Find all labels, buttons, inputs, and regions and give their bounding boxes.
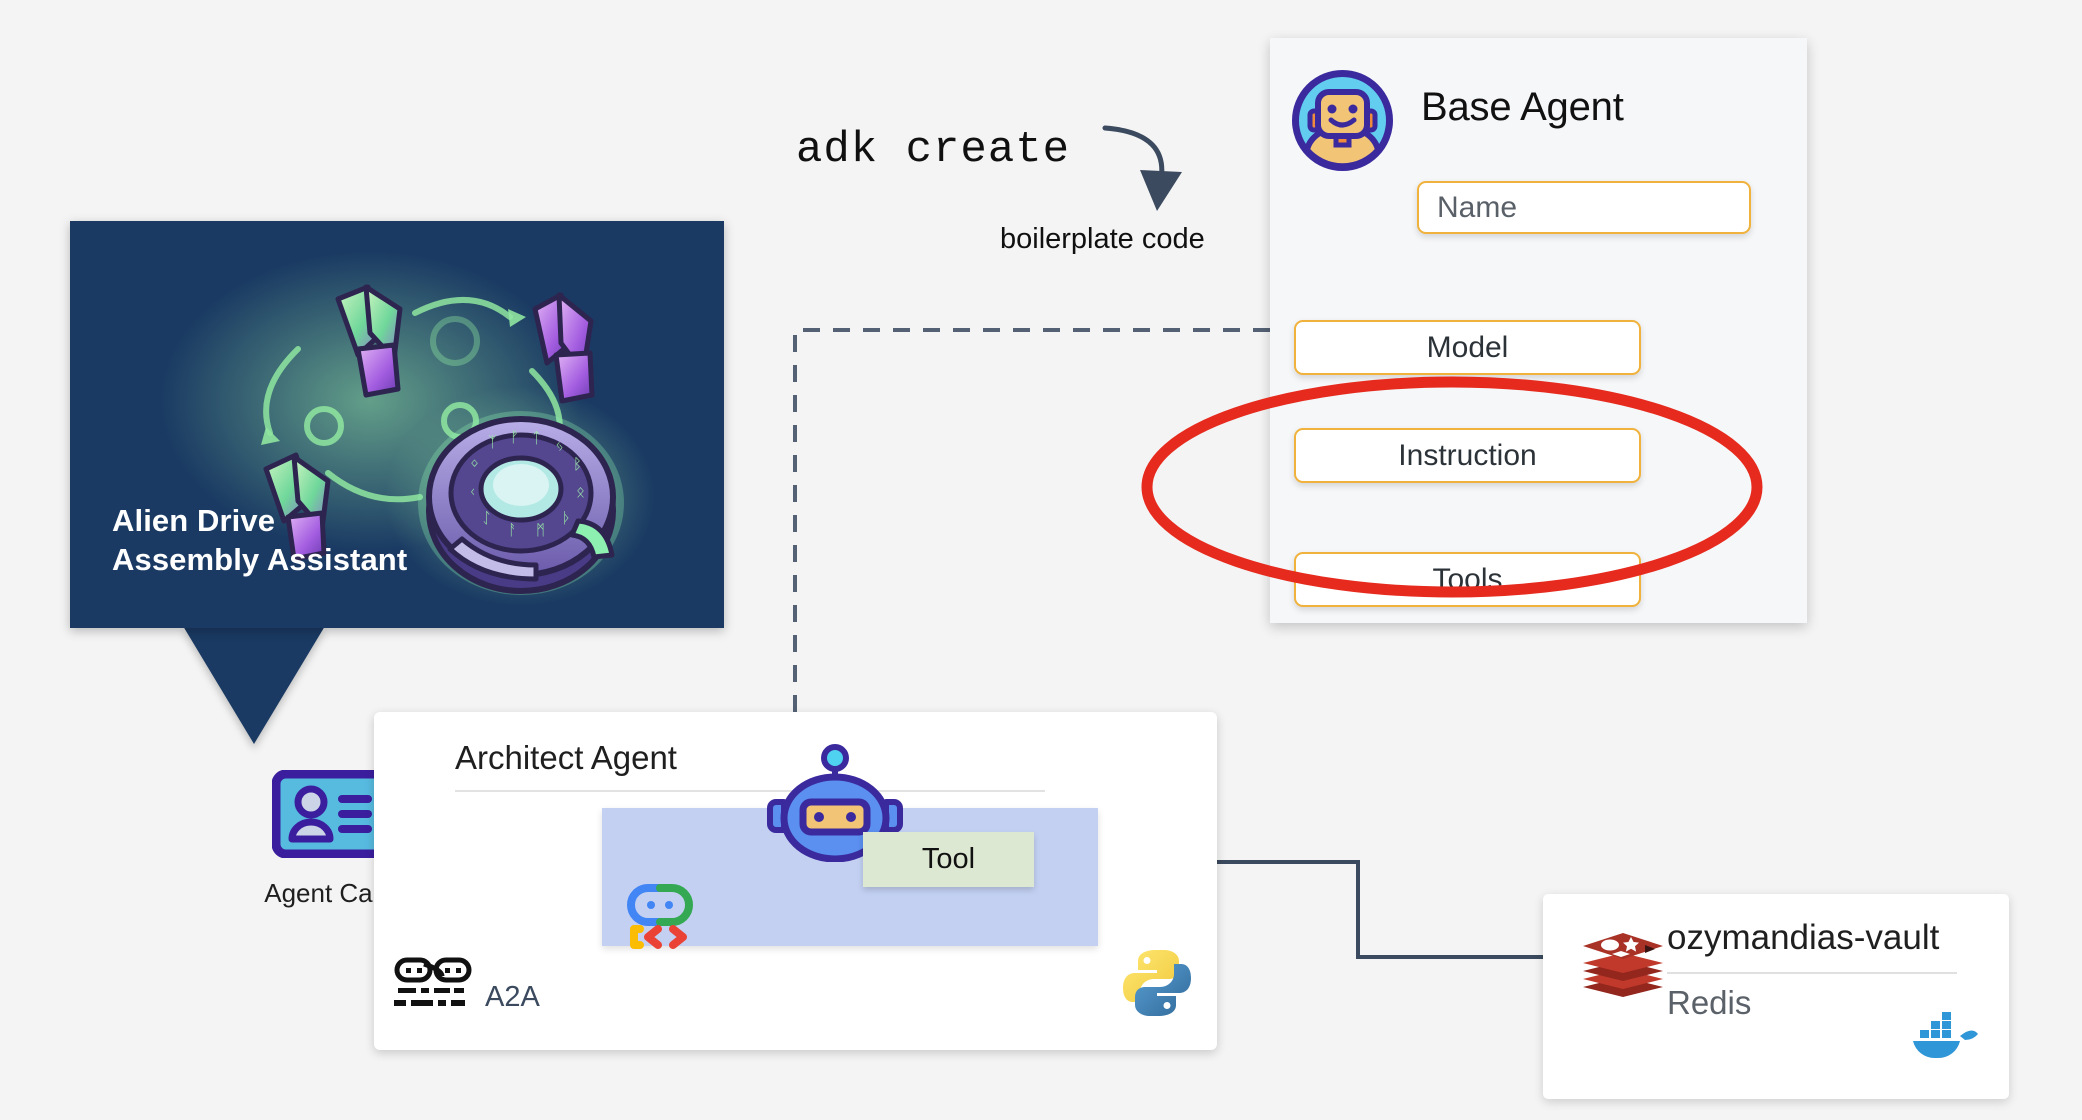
tool-badge[interactable]: Tool — [863, 832, 1034, 887]
adk-create-arrow-head — [1140, 170, 1182, 211]
docker-logo — [1905, 1004, 1983, 1060]
name-field[interactable]: Name — [1417, 181, 1751, 234]
svg-text:ᚦ: ᚦ — [562, 509, 571, 527]
base-agent-card: Base Agent Name Model Instruction Tools — [1270, 38, 1807, 623]
speech-bubble: ᛉᚠᛏ ᛃᛒᛟ ᚦᛗᚨ ᛇᚲᛜ Alien Drive Assembly Ass… — [70, 221, 724, 628]
svg-text:ᛉ: ᛉ — [488, 433, 497, 451]
svg-text:ᛒ: ᛒ — [573, 455, 582, 473]
a2a-protocol-icon — [394, 957, 472, 1013]
svg-text:ᛜ: ᛜ — [470, 455, 479, 473]
speech-bubble-tail — [183, 626, 325, 744]
instruction-field[interactable]: Instruction — [1294, 428, 1641, 483]
vault-service-card: ozymandias-vault Redis — [1543, 894, 2009, 1099]
tools-field[interactable]: Tools — [1294, 552, 1641, 607]
adk-create-arrow-curve — [1105, 128, 1162, 185]
svg-text:ᛃ: ᛃ — [555, 437, 564, 455]
base-agent-title: Base Agent — [1421, 85, 1624, 130]
boilerplate-dashed-connector — [795, 330, 1270, 715]
svg-text:ᚨ: ᚨ — [508, 521, 517, 539]
svg-text:ᛏ: ᛏ — [532, 429, 541, 447]
architect-agent-title: Architect Agent — [455, 739, 677, 777]
a2a-protocol-label: A2A — [485, 981, 540, 1014]
svg-text:ᛟ: ᛟ — [576, 483, 585, 501]
svg-text:ᛇ: ᛇ — [482, 509, 491, 527]
python-logo — [1119, 945, 1195, 1021]
svg-text:ᚲ: ᚲ — [468, 483, 477, 501]
agent-card-icon[interactable] — [272, 770, 388, 858]
vault-divider — [1667, 972, 1957, 974]
vault-service-type: Redis — [1667, 984, 1751, 1022]
architect-title-divider — [455, 790, 1045, 792]
svg-text:ᚠ: ᚠ — [510, 428, 519, 446]
model-field[interactable]: Model — [1294, 320, 1641, 375]
svg-text:ᛗ: ᛗ — [536, 521, 545, 539]
architect-agent-card: Architect Agent — [374, 712, 1217, 1050]
robot-astronaut-avatar-icon — [1290, 68, 1395, 173]
boilerplate-code-label: boilerplate code — [1000, 223, 1205, 256]
google-adk-logo — [624, 884, 696, 950]
speech-bubble-title: Alien Drive Assembly Assistant — [112, 501, 407, 580]
diagram-canvas: ᛉᚠᛏ ᛃᛒᛟ ᚦᛗᚨ ᛇᚲᛜ Alien Drive Assembly Ass… — [0, 0, 2082, 1120]
adk-create-command-label: adk create — [796, 125, 1070, 175]
redis-logo — [1579, 929, 1667, 1001]
vault-service-name: ozymandias-vault — [1667, 918, 1939, 958]
